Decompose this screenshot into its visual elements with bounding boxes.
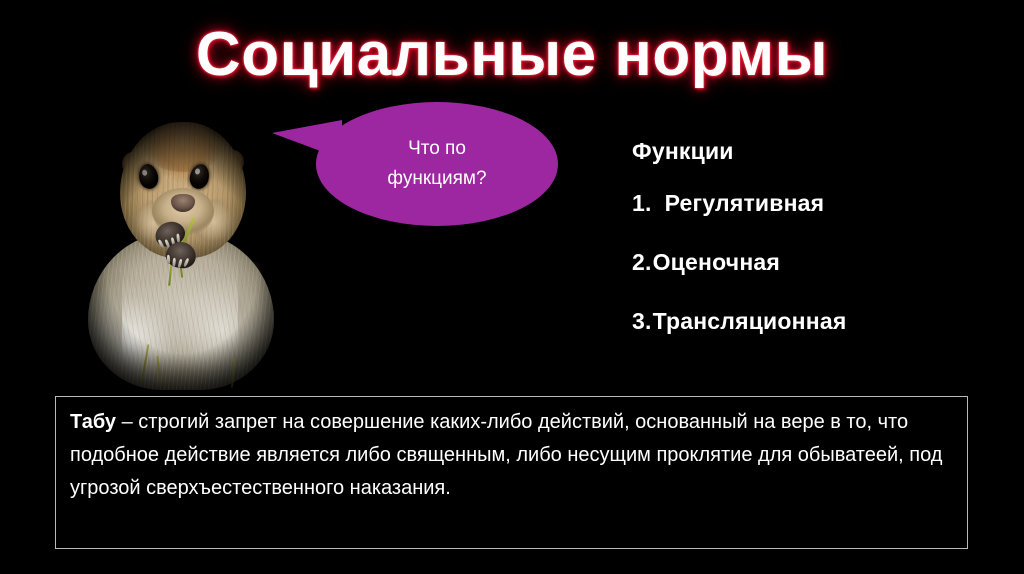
squirrel-right-shoulder [238,262,286,388]
squirrel-crown [144,124,222,172]
functions-list-item-3: 3. Трансляционная [632,306,992,336]
definition-term: Табу [70,411,116,433]
definition-text: Табу – строгий запрет на совершение каки… [70,406,951,505]
functions-block: Функции 1. Регулятивная 2. Оценочная 3. … [632,136,992,365]
speech-bubble-body: Что по функциям? [316,102,558,226]
functions-list-item-2: 2. Оценочная [632,247,992,277]
functions-list-item-2-number: 2. [632,247,652,277]
slide-canvas: Социальные нормы [0,0,1024,574]
definition-box: Табу – строгий запрет на совершение каки… [55,396,968,549]
functions-list-item-3-number: 3. [632,306,652,336]
functions-list-item-1-label: Регулятивная [665,188,825,218]
functions-list-item-1: 1. Регулятивная [632,188,992,218]
speech-bubble-text: Что по функциям? [387,134,486,194]
functions-heading: Функции [632,136,992,166]
functions-list-item-1-number: 1. [632,188,652,218]
functions-list-item-2-label: Оценочная [653,247,780,277]
squirrel-left-shoulder [82,272,122,390]
ground-squirrel-image [82,122,284,390]
page-title: Социальные нормы [0,18,1024,92]
definition-body: – строгий запрет на совершение каких-либ… [70,411,942,499]
speech-bubble: Что по функциям? [272,100,564,232]
functions-list-item-3-label: Трансляционная [653,306,847,336]
